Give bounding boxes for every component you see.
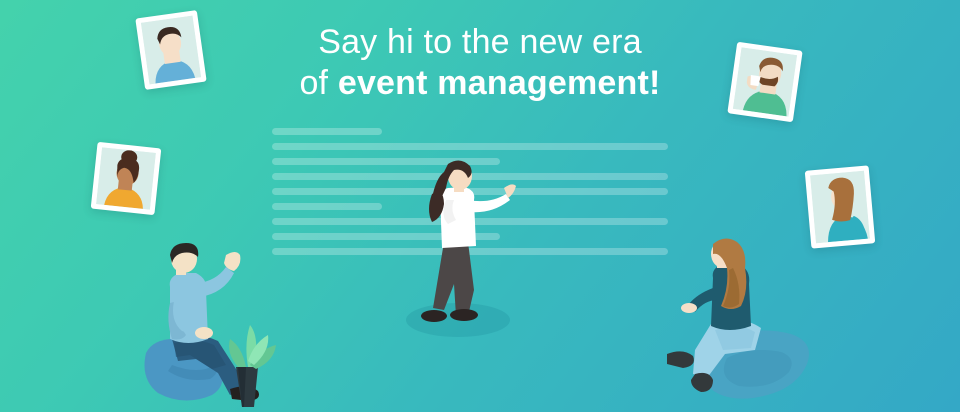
seated-woman-illustration — [655, 238, 820, 410]
seated-man-hand-resting — [195, 327, 213, 339]
presenter-arm — [468, 194, 510, 212]
presenter-shoe-right — [450, 309, 478, 321]
photo-card-man-with-cup[interactable] — [727, 42, 802, 122]
headline-line-1-text: Say hi to the new era — [318, 23, 642, 61]
slide-bar — [272, 143, 668, 150]
seated-man-illustration — [138, 243, 283, 411]
photo-card-man-blue-shirt[interactable] — [135, 10, 206, 90]
headline-line-2-light: of — [299, 64, 337, 102]
headline-line-2-bold: event management! — [338, 64, 661, 102]
slide-bar — [272, 203, 382, 210]
seated-woman-shoe-left — [667, 351, 694, 368]
seated-woman-shoe-right — [691, 373, 713, 392]
presenter-shoe-left — [421, 310, 447, 322]
presenter-woman-illustration — [398, 160, 548, 345]
photo-woman-hair-bun — [96, 147, 156, 209]
photo-man-blue-shirt — [141, 16, 201, 85]
slide-bar — [272, 128, 382, 135]
hero-banner: Say hi to the new era of event managemen… — [0, 0, 960, 412]
photo-card-woman-hair-bun[interactable] — [91, 142, 162, 215]
photo-man-with-cup — [733, 47, 797, 116]
seated-woman-hand — [681, 303, 697, 313]
photo-woman-long-hair — [810, 171, 870, 243]
photo-card-woman-long-hair[interactable] — [805, 165, 876, 248]
